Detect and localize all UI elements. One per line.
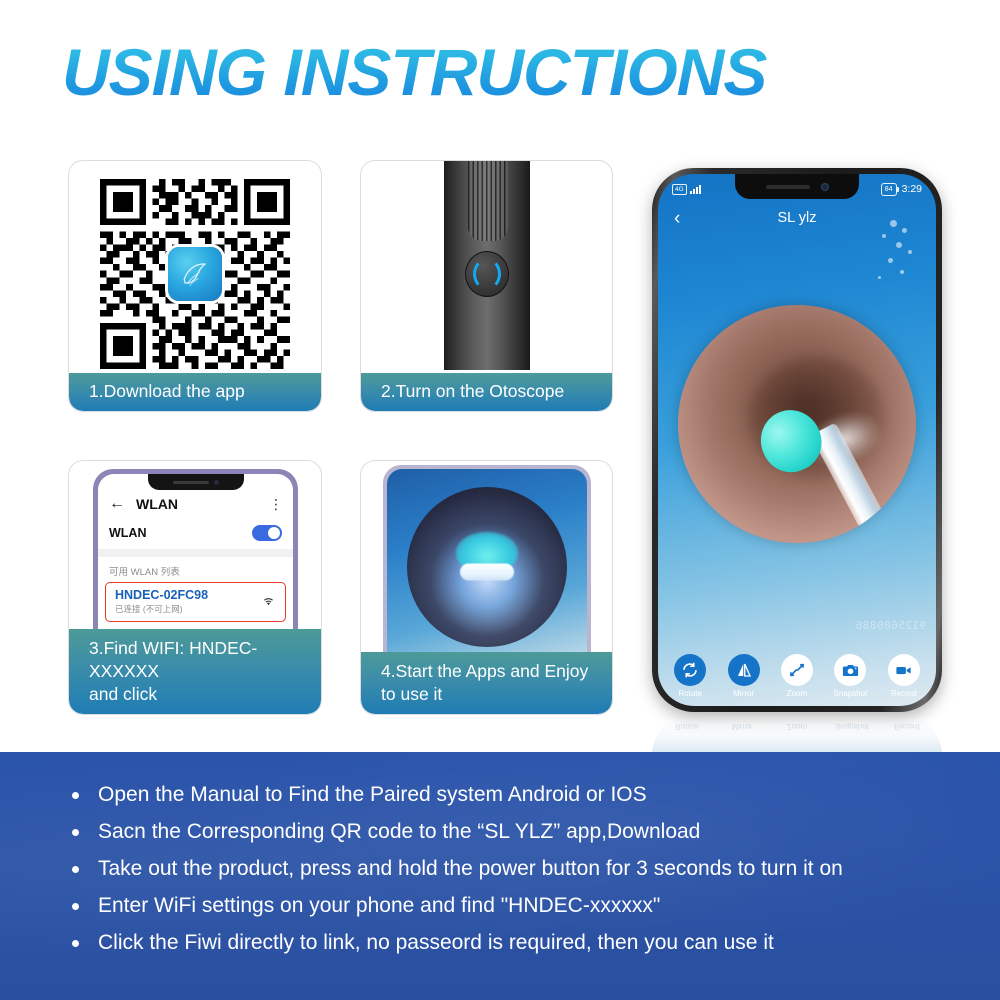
wlan-header-title: WLAN xyxy=(136,496,178,512)
step-caption-4-line1: 4.Start the Apps and Enjoy xyxy=(381,660,612,683)
app-title: SL ylz xyxy=(658,210,936,226)
wifi-signal-icon xyxy=(261,594,276,610)
app-logo-icon xyxy=(168,247,222,301)
wifi-glyph xyxy=(261,595,276,607)
toolbar-button-zoom[interactable]: Zoom xyxy=(775,654,819,698)
front-camera-icon xyxy=(214,480,219,485)
signal-strength-icon xyxy=(690,185,701,194)
power-led-icon xyxy=(473,258,501,290)
refl-mirror: Mirror xyxy=(719,722,765,731)
step-caption-4-line2: to use it xyxy=(381,683,612,706)
instruction-item: Open the Manual to Find the Paired syste… xyxy=(66,776,1000,813)
mirror-icon xyxy=(728,654,760,686)
toolbar-label-snapshot: Snapshot xyxy=(834,689,868,698)
instruction-item: Enter WiFi settings on your phone and fi… xyxy=(66,887,1000,924)
toolbar-label-mirror: Mirror xyxy=(733,689,754,698)
camera-toolbar: Rotate Mirror Zoom xyxy=(658,654,936,698)
toolbar-label-rotate: Rotate xyxy=(678,689,702,698)
step-card-turn-on-otoscope: 2.Turn on the Otoscope xyxy=(360,160,613,412)
app-phone-frame xyxy=(383,465,591,657)
toolbar-button-record[interactable]: Record xyxy=(882,654,926,698)
otoscope-handle xyxy=(444,161,530,370)
toolbar-button-snapshot[interactable]: Snapshot xyxy=(828,654,872,698)
step-caption-4: 4.Start the Apps and Enjoy to use it xyxy=(361,652,612,714)
zoom-icon xyxy=(781,654,813,686)
toolbar-button-mirror[interactable]: Mirror xyxy=(721,654,765,698)
otoscope-grip-texture xyxy=(468,161,508,241)
instruction-item: Take out the product, press and hold the… xyxy=(66,850,1000,887)
status-left-group: 4G xyxy=(672,184,701,195)
back-arrow-icon[interactable]: ← xyxy=(109,496,125,512)
wifi-status: 已连接 (不可上网) xyxy=(115,603,208,615)
video-icon xyxy=(888,654,920,686)
wlan-toggle-switch[interactable] xyxy=(252,525,282,541)
network-badge-icon: 4G xyxy=(672,184,687,195)
battery-icon: 84 xyxy=(881,183,897,196)
mini-phone-notch xyxy=(148,474,244,490)
refl-record: Record xyxy=(884,722,930,731)
overflow-menu-icon[interactable]: ⋮ xyxy=(269,500,283,509)
endoscope-ear-view xyxy=(678,305,916,543)
app-phone-screen xyxy=(387,469,587,657)
main-phone-screen: 4G 84 3:29 ‹ SL ylz xyxy=(658,174,936,706)
refl-snapshot: Snapshot xyxy=(829,722,875,731)
instruction-item: Click the Fiwi directly to link, no pass… xyxy=(66,924,1000,961)
status-right-group: 84 3:29 xyxy=(881,183,922,196)
step-card-start-app: 4.Start the Apps and Enjoy to use it xyxy=(360,460,613,715)
wlan-toggle-row[interactable]: WLAN xyxy=(98,519,293,549)
step-card-find-wifi: ← WLAN ⋮ WLAN 可用 WLAN 列表 HNDEC-02FC98 已连… xyxy=(68,460,322,715)
instruction-item: Sacn the Corresponding QR code to the “S… xyxy=(66,813,1000,850)
step-caption-3: 3.Find WIFI: HNDEC-XXXXXX and click xyxy=(69,629,321,714)
wlan-toggle-label: WLAN xyxy=(109,526,147,540)
scope-tip-highlight xyxy=(460,564,514,581)
refl-rotate: Rotate xyxy=(664,722,710,731)
wifi-ssid: HNDEC-02FC98 xyxy=(115,588,208,603)
instructions-list: Open the Manual to Find the Paired syste… xyxy=(0,752,1000,961)
wifi-network-item-highlighted[interactable]: HNDEC-02FC98 已连接 (不可上网) xyxy=(105,582,286,622)
status-clock: 3:29 xyxy=(902,183,922,195)
power-button[interactable] xyxy=(465,251,509,297)
section-divider xyxy=(98,549,293,557)
available-networks-label: 可用 WLAN 列表 xyxy=(98,557,293,582)
speaker-grille-icon xyxy=(173,481,209,484)
app-back-icon[interactable]: ‹ xyxy=(674,209,680,228)
step-caption-3-line1: 3.Find WIFI: HNDEC-XXXXXX xyxy=(89,637,321,683)
qr-code[interactable] xyxy=(97,179,293,369)
step-caption-1: 1.Download the app xyxy=(69,373,321,411)
earpiece-speaker-icon xyxy=(766,185,810,189)
step-caption-3-line2: and click xyxy=(89,683,321,706)
image-watermark: 9125600886 xyxy=(855,619,926,632)
refl-zoom: Zoom xyxy=(774,722,820,731)
toolbar-label-zoom: Zoom xyxy=(787,689,807,698)
phone-notch xyxy=(735,174,859,199)
front-camera-icon xyxy=(821,183,829,191)
app-logo-glyph xyxy=(177,256,213,292)
camera-icon xyxy=(834,654,866,686)
step-caption-2: 2.Turn on the Otoscope xyxy=(361,373,612,411)
toggle-knob xyxy=(268,527,280,539)
phone-reflection-labels: Rotate Mirror Zoom Snapshot Record xyxy=(652,722,942,731)
toolbar-button-rotate[interactable]: Rotate xyxy=(668,654,712,698)
step-card-download-app: 1.Download the app xyxy=(68,160,322,412)
main-phone-mockup: 4G 84 3:29 ‹ SL ylz xyxy=(652,168,942,712)
toolbar-label-record: Record xyxy=(891,689,917,698)
page-title: USING INSTRUCTIONS xyxy=(62,34,942,110)
rotate-icon xyxy=(674,654,706,686)
instructions-banner: Open the Manual to Find the Paired syste… xyxy=(0,752,1000,1000)
app-title-bar: ‹ SL ylz xyxy=(658,204,936,232)
